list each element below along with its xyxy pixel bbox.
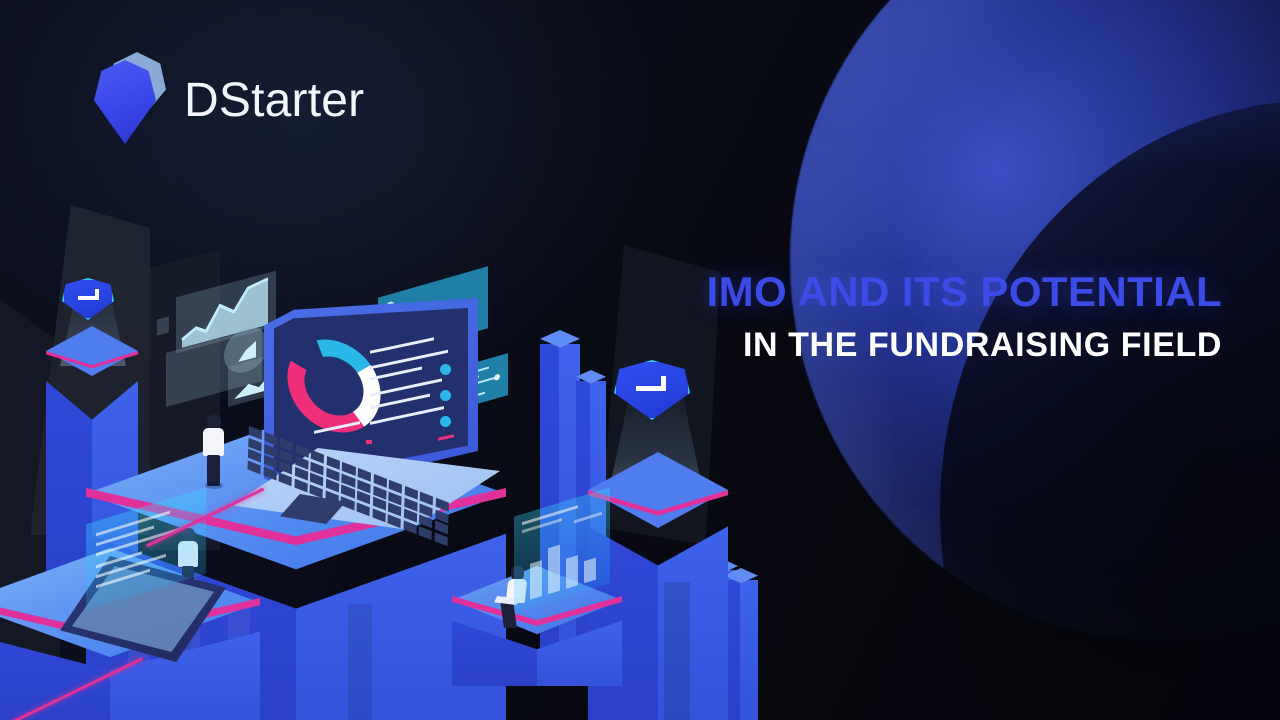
headline-block: IMO AND ITS POTENTIAL IN THE FUNDRAISING… <box>707 268 1223 367</box>
banner-canvas: DStarter IMO AND ITS POTENTIAL IN THE FU… <box>0 0 1280 720</box>
headline-line-2: IN THE FUNDRAISING FIELD <box>707 323 1223 367</box>
shield-badge-right <box>614 360 690 420</box>
logo-shape-front <box>94 60 156 144</box>
brand-wordmark: DStarter <box>184 73 364 128</box>
shield-badge-left <box>62 278 114 320</box>
laptop-device <box>232 298 502 528</box>
card-small-chip <box>157 316 169 335</box>
person-standing-at-laptop <box>196 414 230 486</box>
tower-slim-4 <box>724 568 758 720</box>
brand-logo[interactable]: DStarter <box>92 52 364 148</box>
shield-pin-logo-icon <box>92 52 168 148</box>
headline-line-1: IMO AND ITS POTENTIAL <box>707 268 1223 315</box>
